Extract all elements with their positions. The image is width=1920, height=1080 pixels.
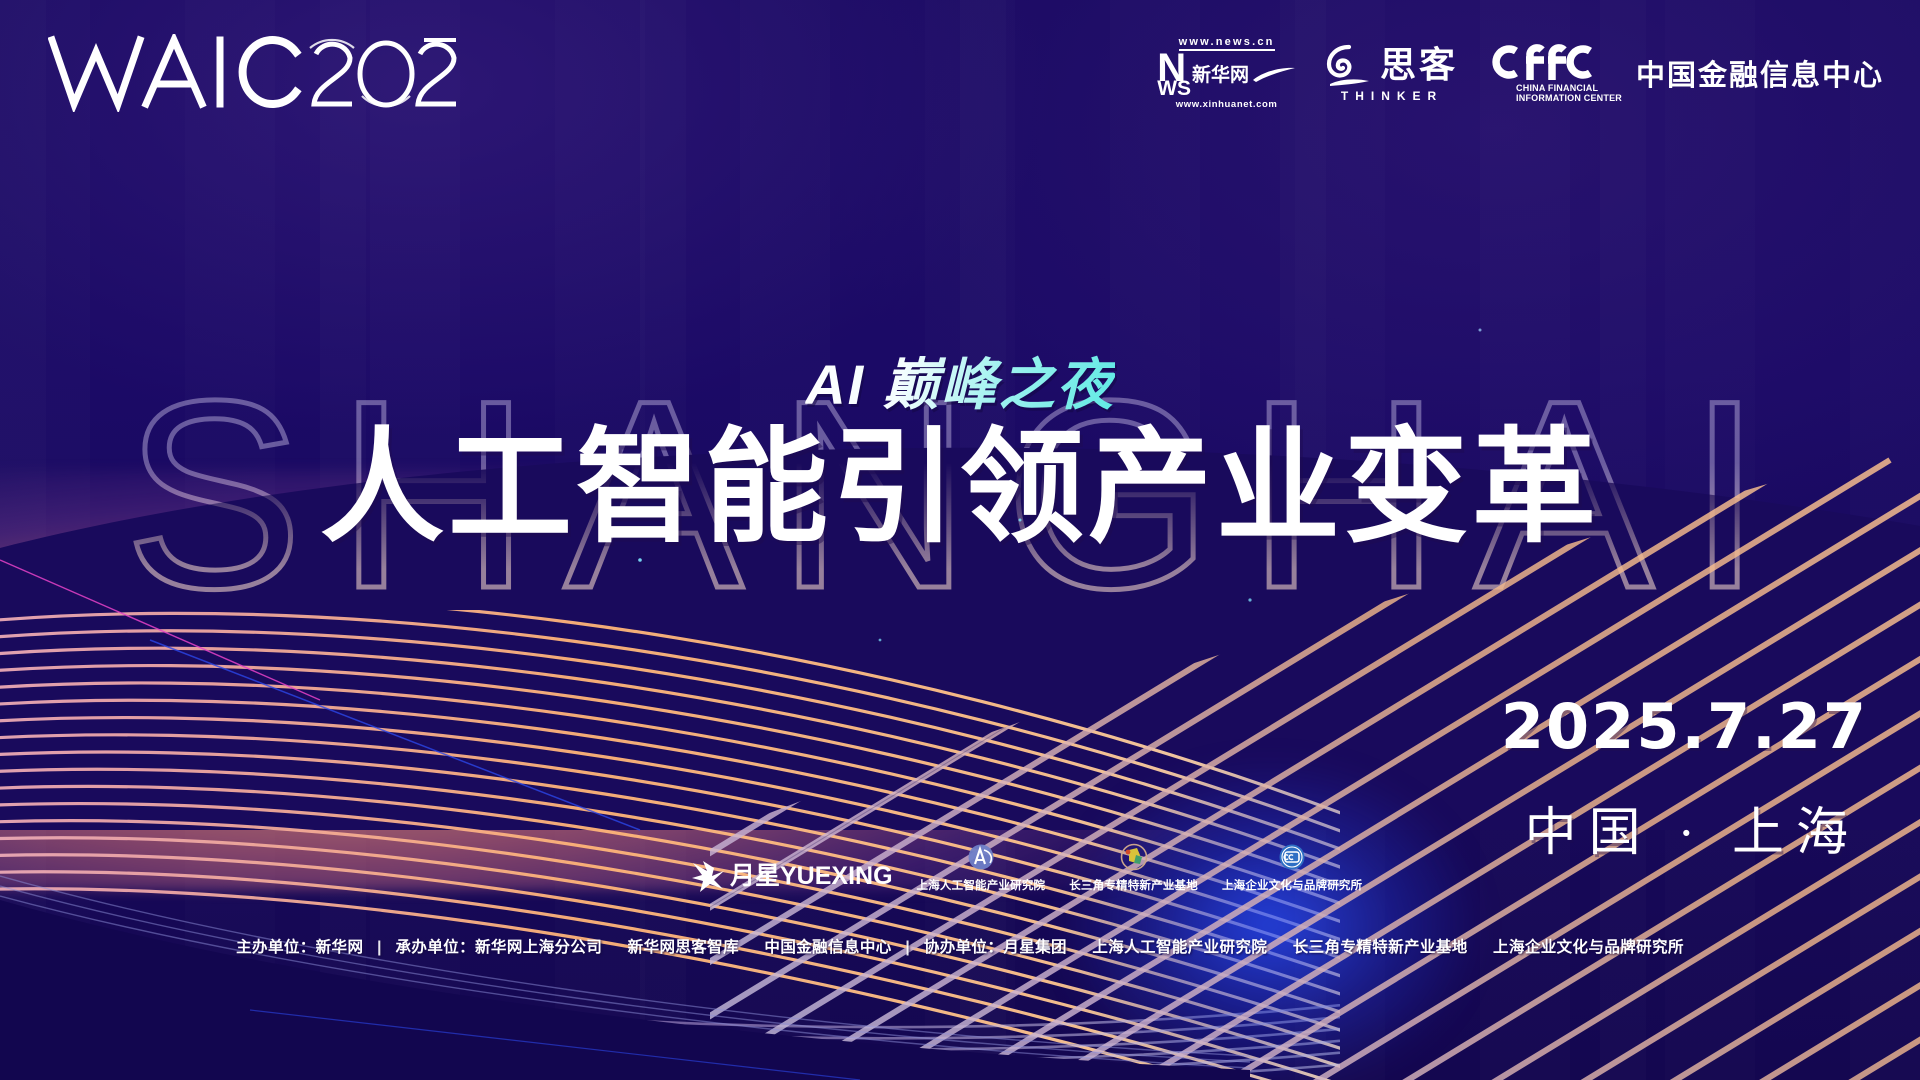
yangtze-delta-base-label: 长三角专精特新产业基地: [1069, 877, 1198, 893]
event-city: 中国 · 上海: [1525, 790, 1860, 865]
yuexing-star-icon: [690, 859, 730, 893]
sponsor-yuexing: 月星YUEXING: [690, 859, 893, 893]
cfic-mark-icon: [1488, 42, 1596, 82]
shanghai-ai-institute-label: 上海人工智能产业研究院: [917, 877, 1046, 893]
credits-separator-2: |: [896, 939, 919, 956]
credits-line: 主办单位：新华网 | 承办单位：新华网上海分公司 新华网思客智库 中国金融信息中…: [0, 935, 1920, 957]
enterprise-culture-institute-icon: [1275, 843, 1309, 875]
partner-logo-thinker: 思客 THINKER: [1326, 43, 1458, 103]
partner-logo-cfic: CHINA FINANCIAL INFORMATION CENTER 中国金融信…: [1488, 42, 1884, 104]
xinhua-mark-ws: WS: [1157, 81, 1191, 98]
credits-host-2: 新华网思客智库: [628, 939, 739, 956]
thinker-swirl-icon: [1326, 43, 1372, 87]
xinhua-url-bottom: www.xinhuanet.com: [1176, 99, 1278, 110]
event-headline: 人工智能引领产业变革: [320, 423, 1600, 553]
credits-coorganizer-2: 上海人工智能产业研究院: [1092, 939, 1267, 956]
event-subtitle: AI 巅峰之夜: [805, 340, 1115, 421]
sponsor-logo-strip: 月星YUEXING 上海人工智能产业研究院 长三角专精特新产业基地: [690, 843, 1362, 893]
cfic-sub-line2: INFORMATION CENTER: [1516, 93, 1622, 103]
credits-host: 承办单位：新华网上海分公司: [396, 939, 603, 956]
cfic-cn-label: 中国金融信息中心: [1636, 52, 1884, 94]
shanghai-ai-institute-icon: [964, 843, 998, 875]
partner-logo-xinhua-net: www.news.cn N WS 新华网 www.xinhuanet.com: [1157, 36, 1296, 110]
credits-separator-1: |: [368, 939, 391, 956]
partner-logo-row: www.news.cn N WS 新华网 www.xinhuanet.com: [1157, 36, 1884, 110]
credits-coorganizer-4: 上海企业文化与品牌研究所: [1493, 939, 1684, 956]
event-date: 2025.7.27: [1501, 690, 1868, 763]
credits-organizer: 主办单位：新华网: [236, 939, 363, 956]
credits-host-3: 中国金融信息中心: [764, 939, 891, 956]
thinker-en-label: THINKER: [1341, 89, 1443, 103]
waic-logo: [48, 34, 468, 112]
sponsor-shanghai-ai-institute: 上海人工智能产业研究院: [917, 843, 1046, 893]
xinhua-mark-cn: 新华网: [1192, 66, 1249, 86]
credits-coorganizer-3: 长三角专精特新产业基地: [1293, 939, 1468, 956]
xinhua-url-top: www.news.cn: [1179, 36, 1275, 51]
yuexing-label: 月星YUEXING: [730, 864, 893, 889]
thinker-cn-label: 思客: [1380, 47, 1458, 83]
sponsor-enterprise-culture-institute: 上海企业文化与品牌研究所: [1222, 843, 1362, 893]
poster-canvas: SHANGHAI SHANGHAI: [0, 0, 1920, 1080]
bottom-left-wave: [0, 780, 1250, 1080]
enterprise-culture-institute-label: 上海企业文化与品牌研究所: [1222, 877, 1362, 893]
yangtze-delta-base-icon: [1117, 843, 1151, 875]
credits-coorganizer: 协办单位：月星集团: [924, 939, 1067, 956]
cfic-sub-line1: CHINA FINANCIAL: [1516, 83, 1622, 93]
xinhua-swoosh-icon: [1252, 67, 1296, 83]
sponsor-yangtze-delta-base: 长三角专精特新产业基地: [1069, 843, 1198, 893]
